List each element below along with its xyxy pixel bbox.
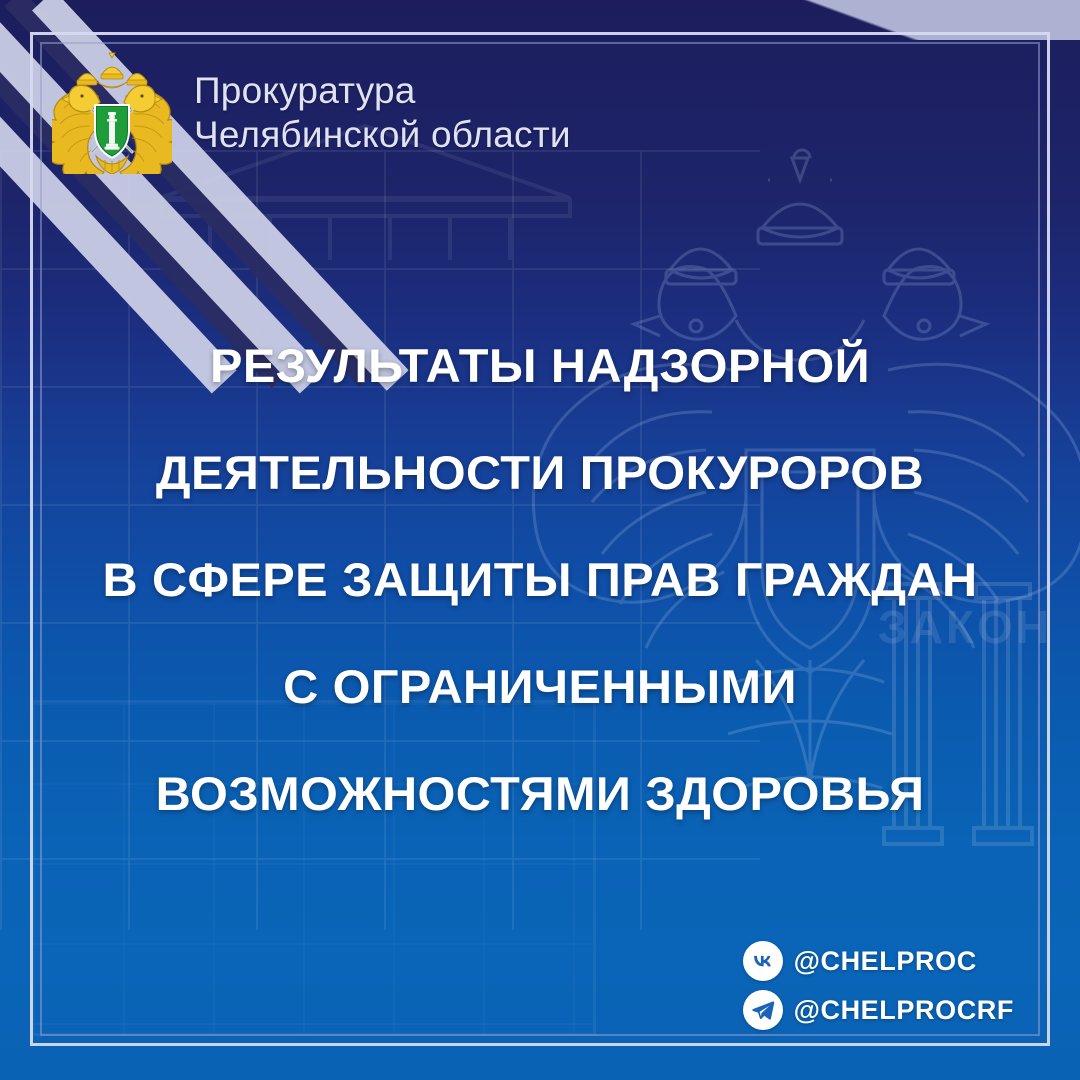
title-line-3: В СФЕРЕ ЗАЩИТЫ ПРАВ ГРАЖДАН — [39, 526, 1041, 633]
top-diagonal-sliver — [440, 0, 1080, 40]
social-handle-vk: @CHELPROC — [794, 946, 977, 977]
poster-canvas: ЗАКОН — [0, 0, 1080, 1080]
telegram-icon[interactable] — [743, 990, 783, 1030]
prosecutor-eagle-emblem-icon — [52, 52, 172, 174]
social-link-vk[interactable]: @CHELPROC — [743, 941, 977, 981]
organization-name: Прокуратура Челябинской области — [194, 69, 571, 158]
social-link-telegram[interactable]: @CHELPROCRF — [743, 990, 1014, 1030]
title-line-2: ДЕЯТЕЛЬНОСТИ ПРОКУРОРОВ — [39, 419, 1041, 526]
title-line-1: РЕЗУЛЬТАТЫ НАДЗОРНОЙ — [39, 312, 1041, 419]
header: Прокуратура Челябинской области — [52, 52, 571, 174]
vk-icon[interactable] — [743, 941, 783, 981]
social-links: @CHELPROC @CHELPROCRF — [743, 941, 1014, 1030]
title-line-5: ВОЗМОЖНОСТЯМИ ЗДОРОВЬЯ — [39, 740, 1041, 847]
social-handle-telegram: @CHELPROCRF — [794, 995, 1014, 1026]
title-line-4: С ОГРАНИЧЕННЫМИ — [39, 633, 1041, 740]
main-title: РЕЗУЛЬТАТЫ НАДЗОРНОЙ ДЕЯТЕЛЬНОСТИ ПРОКУР… — [56, 312, 1024, 847]
